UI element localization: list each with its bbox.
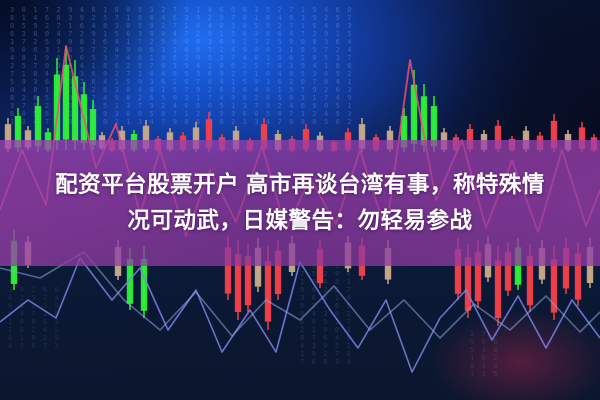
upper-candle-group (5, 46, 597, 152)
headline-line-2: 况可动武，日媒警告：勿轻易参战 (127, 206, 472, 236)
candle-body (265, 261, 271, 321)
candle-body (495, 260, 501, 318)
candle-body (141, 259, 147, 311)
headline-block: 配资平台股票开户 高市再谈台湾有事，称特殊情 况可动武，日媒警告：勿轻易参战 (0, 140, 600, 266)
headline-line-1: 配资平台股票开户 高市再谈台湾有事，称特殊情 (55, 170, 545, 200)
banner-image: 3 0 1 7 2 9 4 6 1 8 0 5 3 2 7 9 1 4 6 0 … (0, 0, 600, 400)
candle-body (63, 65, 69, 140)
